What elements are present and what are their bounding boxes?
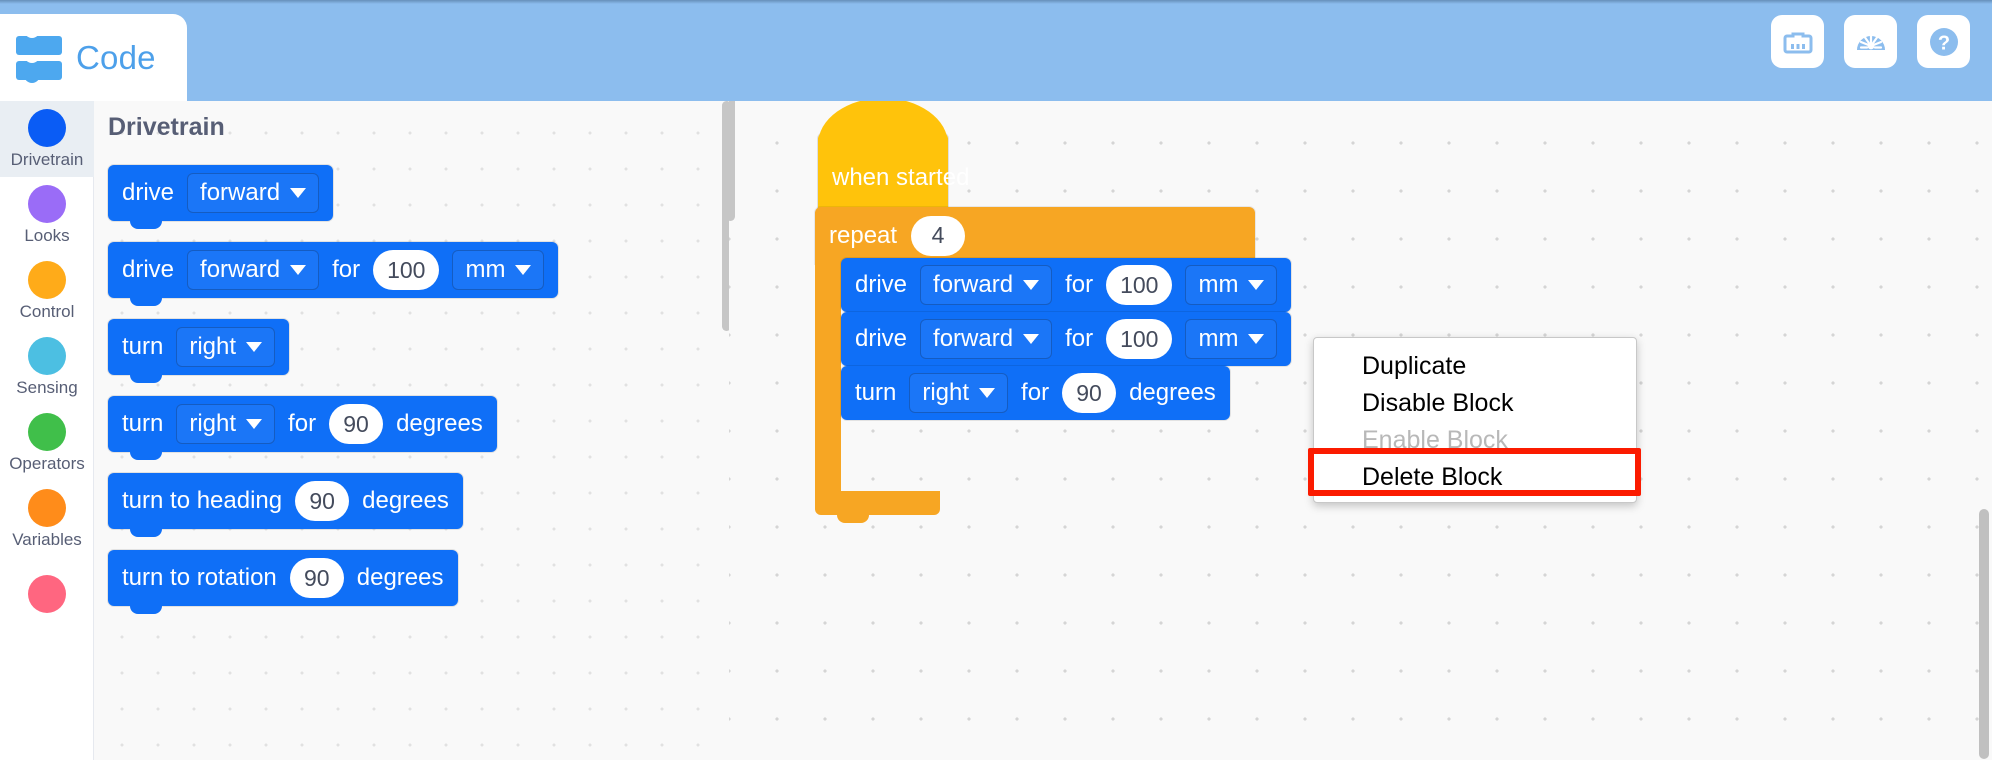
unit-dropdown[interactable]: mm <box>452 250 544 290</box>
distance-input[interactable]: 100 <box>1106 265 1172 305</box>
block-label: drive <box>855 271 907 299</box>
degrees-input[interactable]: 90 <box>1062 373 1116 413</box>
context-menu-item-enable-block: Enable Block <box>1314 422 1636 459</box>
blocks-icon <box>16 36 62 80</box>
block-palette: Drivetrain drive forward drive forward f… <box>94 101 729 760</box>
turn-direction-dropdown[interactable]: right <box>176 404 275 444</box>
block-label: turn to rotation <box>122 564 277 592</box>
block-label-degrees: degrees <box>396 410 483 438</box>
dropdown-value: right <box>189 333 236 361</box>
palette-block-turn-to-rotation[interactable]: turn to rotation 90 degrees <box>108 550 458 606</box>
dashboard-button[interactable] <box>1844 15 1897 68</box>
block-label: turn <box>122 410 163 438</box>
top-bar-shadow <box>0 0 1992 4</box>
operators-color-icon <box>28 413 66 451</box>
dropdown-value: right <box>922 379 969 407</box>
block-label: drive <box>855 325 907 353</box>
chevron-down-icon <box>515 265 531 275</box>
sidebar-item-variables[interactable]: Variables <box>0 481 94 557</box>
dropdown-value: mm <box>1198 325 1238 353</box>
palette-block-drive-direction[interactable]: drive forward <box>108 165 333 221</box>
device-info-button[interactable] <box>1771 15 1824 68</box>
block-drive-for-distance-2[interactable]: drive forward for 100 mm <box>841 312 1291 366</box>
dropdown-value: mm <box>465 256 505 284</box>
sidebar-item-label: Drivetrain <box>11 150 84 170</box>
direction-dropdown[interactable]: forward <box>920 319 1052 359</box>
chevron-down-icon <box>1023 334 1039 344</box>
repeat-left-arm <box>815 264 841 491</box>
block-label: when started <box>832 164 969 192</box>
block-notch <box>130 452 162 460</box>
palette-title: Drivetrain <box>108 113 225 142</box>
sidebar-item-label: Control <box>20 302 75 322</box>
context-menu-item-label: Duplicate <box>1362 352 1466 381</box>
block-notch <box>130 298 162 306</box>
block-when-started[interactable]: when started <box>818 133 948 217</box>
myblocks-color-icon <box>28 575 66 613</box>
context-menu-item-label: Enable Block <box>1362 426 1508 455</box>
sidebar-item-looks[interactable]: Looks <box>0 177 94 253</box>
chevron-down-icon <box>979 388 995 398</box>
chevron-down-icon <box>246 342 262 352</box>
block-label-degrees: degrees <box>357 564 444 592</box>
turn-direction-dropdown[interactable]: right <box>909 373 1008 413</box>
gauge-dashboard-icon <box>1854 25 1888 59</box>
distance-input[interactable]: 100 <box>373 250 439 290</box>
block-notch <box>130 606 162 614</box>
chevron-down-icon <box>246 419 262 429</box>
distance-input[interactable]: 100 <box>1106 319 1172 359</box>
direction-dropdown[interactable]: forward <box>187 250 319 290</box>
palette-block-turn-for-degrees[interactable]: turn right for 90 degrees <box>108 396 497 452</box>
sidebar-item-control[interactable]: Control <box>0 253 94 329</box>
block-drive-for-distance-1[interactable]: drive forward for 100 mm <box>841 258 1291 312</box>
sidebar-item-drivetrain[interactable]: Drivetrain <box>0 101 94 177</box>
top-bar-actions: ? <box>1771 15 1970 68</box>
chevron-down-icon <box>290 188 306 198</box>
sidebar-item-label: Looks <box>24 226 69 246</box>
dropdown-value: forward <box>933 325 1013 353</box>
block-turn-for-degrees[interactable]: turn right for 90 degrees <box>841 366 1230 420</box>
degrees-input[interactable]: 90 <box>329 404 383 444</box>
dropdown-value: forward <box>200 179 280 207</box>
block-label-for: for <box>1065 271 1093 299</box>
block-notch <box>130 375 162 383</box>
block-label: turn <box>122 333 163 361</box>
dropdown-value: forward <box>200 256 280 284</box>
workspace-scrollbar-vertical[interactable] <box>1979 509 1989 759</box>
palette-block-drive-for-distance[interactable]: drive forward for 100 mm <box>108 242 558 298</box>
tab-code-label: Code <box>76 39 156 77</box>
heading-input[interactable]: 90 <box>295 481 349 521</box>
drivetrain-color-icon <box>28 109 66 147</box>
block-label: turn to heading <box>122 487 282 515</box>
device-battery-icon <box>1782 26 1814 58</box>
unit-dropdown[interactable]: mm <box>1185 265 1277 305</box>
block-label-for: for <box>332 256 360 284</box>
top-bar: Code <box>0 0 1992 101</box>
context-menu-item-duplicate[interactable]: Duplicate <box>1314 348 1636 385</box>
rotation-input[interactable]: 90 <box>290 558 344 598</box>
palette-block-turn-direction[interactable]: turn right <box>108 319 289 375</box>
workspace-scrollbar-left[interactable] <box>729 101 735 221</box>
block-label: turn <box>855 379 896 407</box>
help-button[interactable]: ? <box>1917 15 1970 68</box>
repeat-footer <box>815 491 940 515</box>
svg-text:?: ? <box>1937 32 1949 54</box>
block-label-for: for <box>1021 379 1049 407</box>
block-notch <box>130 529 162 537</box>
dropdown-value: right <box>189 410 236 438</box>
sensing-color-icon <box>28 337 66 375</box>
dropdown-value: mm <box>1198 271 1238 299</box>
block-label: repeat <box>829 222 897 250</box>
dropdown-value: forward <box>933 271 1013 299</box>
context-menu-item-delete-block[interactable]: Delete Block <box>1314 459 1636 496</box>
sidebar-item-sensing[interactable]: Sensing <box>0 329 94 405</box>
sidebar-item-label: Sensing <box>16 378 77 398</box>
unit-dropdown[interactable]: mm <box>1185 319 1277 359</box>
control-color-icon <box>28 261 66 299</box>
block-context-menu[interactable]: Duplicate Disable Block Enable Block Del… <box>1313 337 1637 503</box>
palette-block-turn-to-heading[interactable]: turn to heading 90 degrees <box>108 473 463 529</box>
repeat-header[interactable]: repeat 4 <box>815 207 1255 264</box>
block-notch <box>130 221 162 229</box>
chevron-down-icon <box>290 265 306 275</box>
looks-color-icon <box>28 185 66 223</box>
block-label-for: for <box>1065 325 1093 353</box>
tab-code[interactable]: Code <box>0 14 187 101</box>
block-label-degrees: degrees <box>1129 379 1216 407</box>
block-label: drive <box>122 179 174 207</box>
direction-dropdown[interactable]: forward <box>920 265 1052 305</box>
chevron-down-icon <box>1248 334 1264 344</box>
context-menu-item-label: Disable Block <box>1362 389 1513 418</box>
chevron-down-icon <box>1023 280 1039 290</box>
sidebar-item-label: Variables <box>12 530 82 550</box>
block-label-for: for <box>288 410 316 438</box>
turn-direction-dropdown[interactable]: right <box>176 327 275 367</box>
question-mark-icon: ? <box>1927 25 1961 59</box>
context-menu-item-label: Delete Block <box>1362 463 1502 492</box>
block-label: drive <box>122 256 174 284</box>
sidebar-item-label: Operators <box>9 454 85 474</box>
variables-color-icon <box>28 489 66 527</box>
direction-dropdown[interactable]: forward <box>187 173 319 213</box>
repeat-count-input[interactable]: 4 <box>911 216 965 256</box>
sidebar-item-operators[interactable]: Operators <box>0 405 94 481</box>
palette-scrollbar[interactable] <box>722 101 729 331</box>
context-menu-item-disable-block[interactable]: Disable Block <box>1314 385 1636 422</box>
category-sidebar: Drivetrain Looks Control Sensing Operato… <box>0 101 94 760</box>
chevron-down-icon <box>1248 280 1264 290</box>
sidebar-item-myblocks[interactable] <box>0 557 94 633</box>
block-label-degrees: degrees <box>362 487 449 515</box>
